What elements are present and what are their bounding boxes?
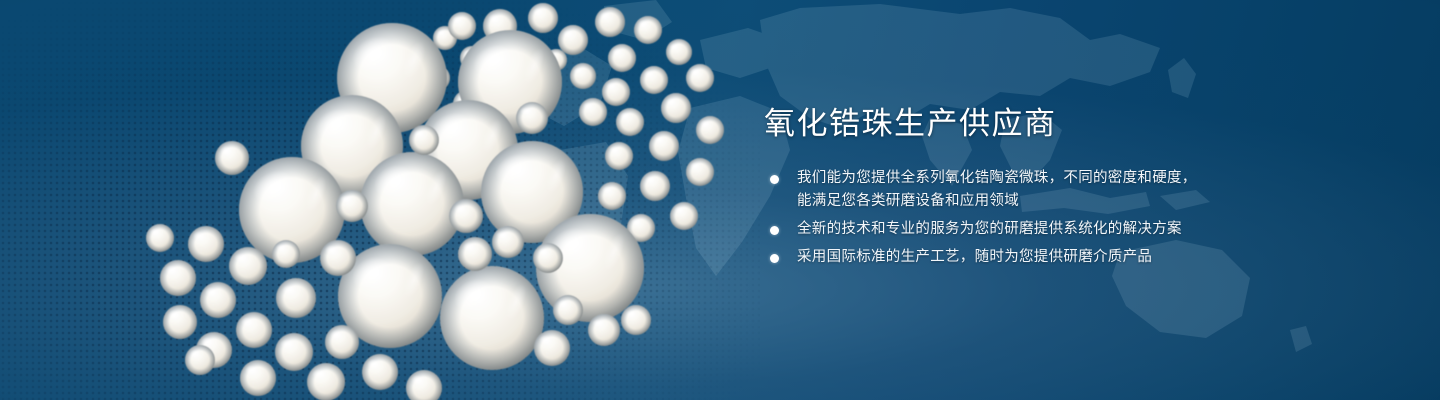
- list-item: 采用国际标准的生产工艺，随时为您提供研磨介质产品: [764, 246, 1404, 269]
- hero-banner: 氧化锆珠生产供应商 我们能为您提供全系列氧化锆陶瓷微珠，不同的密度和硬度， 能满…: [0, 0, 1440, 400]
- bullet-dot-icon: [770, 226, 779, 235]
- banner-copy: 氧化锆珠生产供应商 我们能为您提供全系列氧化锆陶瓷微珠，不同的密度和硬度， 能满…: [764, 104, 1404, 269]
- bullet-dot-icon: [770, 175, 779, 184]
- list-item-label: 我们能为您提供全系列氧化锆陶瓷微珠，不同的密度和硬度，: [797, 167, 1404, 190]
- list-item-label: 采用国际标准的生产工艺，随时为您提供研磨介质产品: [797, 246, 1404, 269]
- page-title: 氧化锆珠生产供应商: [764, 104, 1404, 144]
- list-item-label-cont: 能满足您各类研磨设备和应用领域: [797, 190, 1404, 213]
- bullet-dot-icon: [770, 254, 779, 263]
- list-item: 我们能为您提供全系列氧化锆陶瓷微珠，不同的密度和硬度， 能满足您各类研磨设备和应…: [764, 167, 1404, 213]
- list-item-label: 全新的技术和专业的服务为您的研磨提供系统化的解决方案: [797, 218, 1404, 241]
- feature-list: 我们能为您提供全系列氧化锆陶瓷微珠，不同的密度和硬度， 能满足您各类研磨设备和应…: [764, 167, 1404, 269]
- list-item: 全新的技术和专业的服务为您的研磨提供系统化的解决方案: [764, 218, 1404, 241]
